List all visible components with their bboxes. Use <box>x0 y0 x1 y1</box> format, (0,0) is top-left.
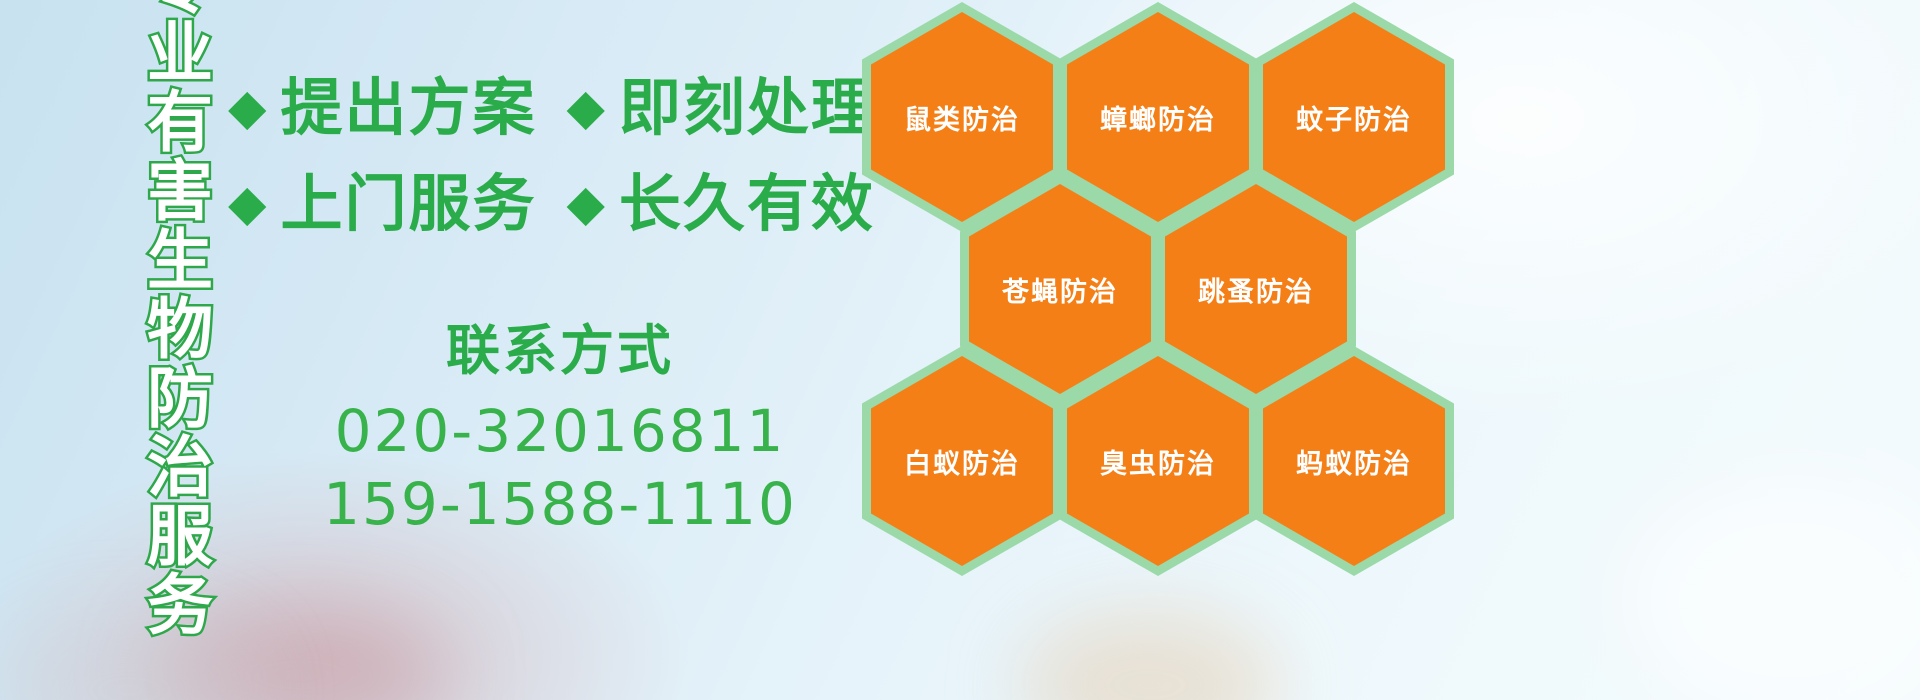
feature-label-propose-plan: 提出方案 <box>280 78 536 140</box>
vertical-company-title: 专业有害生物防治服务 <box>104 14 208 574</box>
promo-banner: 专业有害生物防治服务 ◆ 提出方案 ◆ 即刻处理 ◆ 上门服务 ◆ 长久有效 联… <box>0 0 1920 700</box>
background-blob-orange <box>1020 610 1280 700</box>
feature-row-2: ◆ 上门服务 ◆ 长久有效 <box>228 174 888 236</box>
background-blob-grey <box>0 620 260 700</box>
contact-block: 联系方式 020-32016811 159-1588-1110 <box>240 322 880 542</box>
feature-label-long-lasting: 长久有效 <box>619 174 875 236</box>
service-hex-label: 蚊子防治 <box>1296 98 1412 137</box>
diamond-icon: ◆ <box>228 82 266 132</box>
contact-phone-mobile[interactable]: 159-1588-1110 <box>240 468 880 541</box>
background-blob-white <box>1620 470 1920 700</box>
feature-label-immediate-handling: 即刻处理 <box>619 78 875 140</box>
diamond-icon: ◆ <box>566 82 604 132</box>
contact-phone-landline[interactable]: 020-32016811 <box>240 395 880 468</box>
service-hex-label: 臭虫防治 <box>1100 442 1216 481</box>
service-hex-label: 苍蝇防治 <box>1002 270 1118 309</box>
diamond-icon: ◆ <box>228 178 266 228</box>
contact-title: 联系方式 <box>240 322 880 381</box>
diamond-icon: ◆ <box>566 178 604 228</box>
service-hexagon-grid: 鼠类防治 蟑螂防治 蚊子防治 苍蝇防治 跳蚤防治 白蚁防治 臭虫防治 <box>862 0 1462 566</box>
service-hex-label: 蚂蚁防治 <box>1296 442 1412 481</box>
service-hex-label: 蟑螂防治 <box>1100 98 1216 137</box>
feature-row-1: ◆ 提出方案 ◆ 即刻处理 <box>228 78 888 140</box>
feature-headlines: ◆ 提出方案 ◆ 即刻处理 ◆ 上门服务 ◆ 长久有效 <box>228 78 888 270</box>
service-hex-label: 跳蚤防治 <box>1198 270 1314 309</box>
service-hex-label: 白蚁防治 <box>904 442 1020 481</box>
feature-label-onsite-service: 上门服务 <box>280 174 536 236</box>
service-hex-label: 鼠类防治 <box>904 98 1020 137</box>
